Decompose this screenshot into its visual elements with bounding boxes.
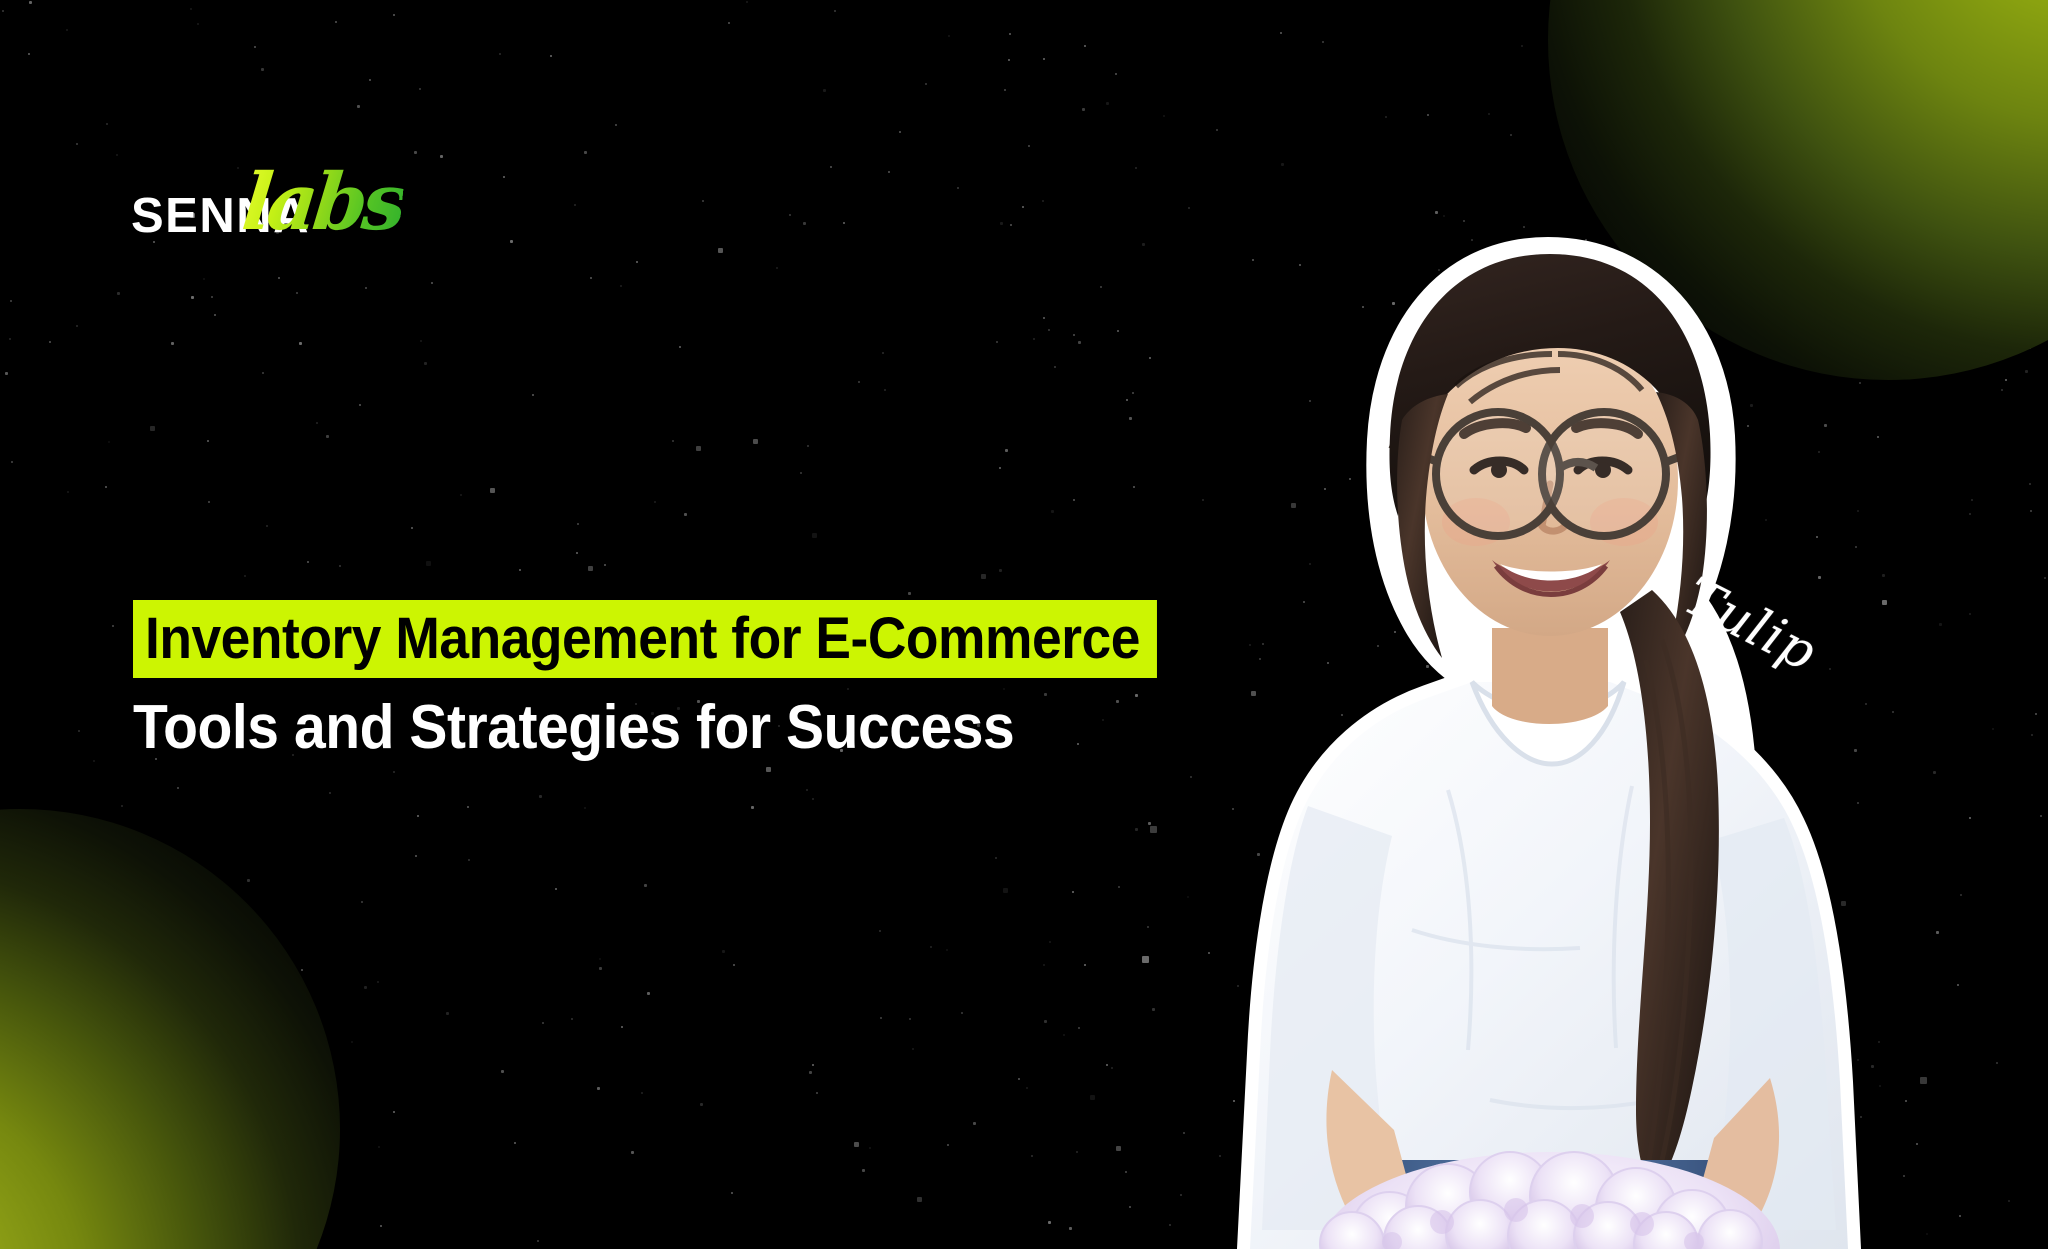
- signature-name: Tulip: [1676, 570, 1824, 680]
- portrait-hair-ponytail: [1620, 590, 1719, 1192]
- portrait-nose: [1542, 484, 1566, 531]
- portrait-hair-top: [1389, 254, 1710, 518]
- portrait-arm-left: [1326, 1070, 1426, 1249]
- green-sphere-top-right-icon: [1548, 0, 2048, 380]
- portrait-eyebrow-left: [1464, 423, 1526, 434]
- portrait-arm-right: [1684, 1078, 1779, 1249]
- sennalabs-logo[interactable]: SENNA labs: [131, 176, 421, 246]
- portrait-eye-right: [1578, 461, 1628, 470]
- portrait-flower-bouquet: [1320, 1152, 1780, 1249]
- headline-line-1: Inventory Management for E-Commerce: [133, 600, 1157, 678]
- banner-canvas: SENNA labs Inventory Management for E-Co…: [0, 0, 2048, 1249]
- portrait-jeans: [1388, 1160, 1714, 1249]
- logo-script: labs: [239, 164, 406, 242]
- portrait-eyebrow-right: [1576, 423, 1638, 434]
- portrait-neck: [1492, 628, 1608, 724]
- portrait-shirt: [1250, 682, 1848, 1249]
- headline-line-2: Tools and Strategies for Success: [133, 692, 1237, 764]
- portrait-eye-left: [1474, 461, 1524, 470]
- portrait-outline-stroke: [1250, 250, 1848, 1249]
- headline-block: Inventory Management for E-Commerce Tool…: [133, 600, 1333, 764]
- portrait-hair-left: [1397, 394, 1448, 658]
- green-sphere-bottom-left-icon: [0, 809, 340, 1249]
- portrait-face: [1422, 324, 1678, 636]
- portrait-mouth: [1492, 560, 1610, 592]
- portrait-glasses-icon: [1390, 412, 1708, 536]
